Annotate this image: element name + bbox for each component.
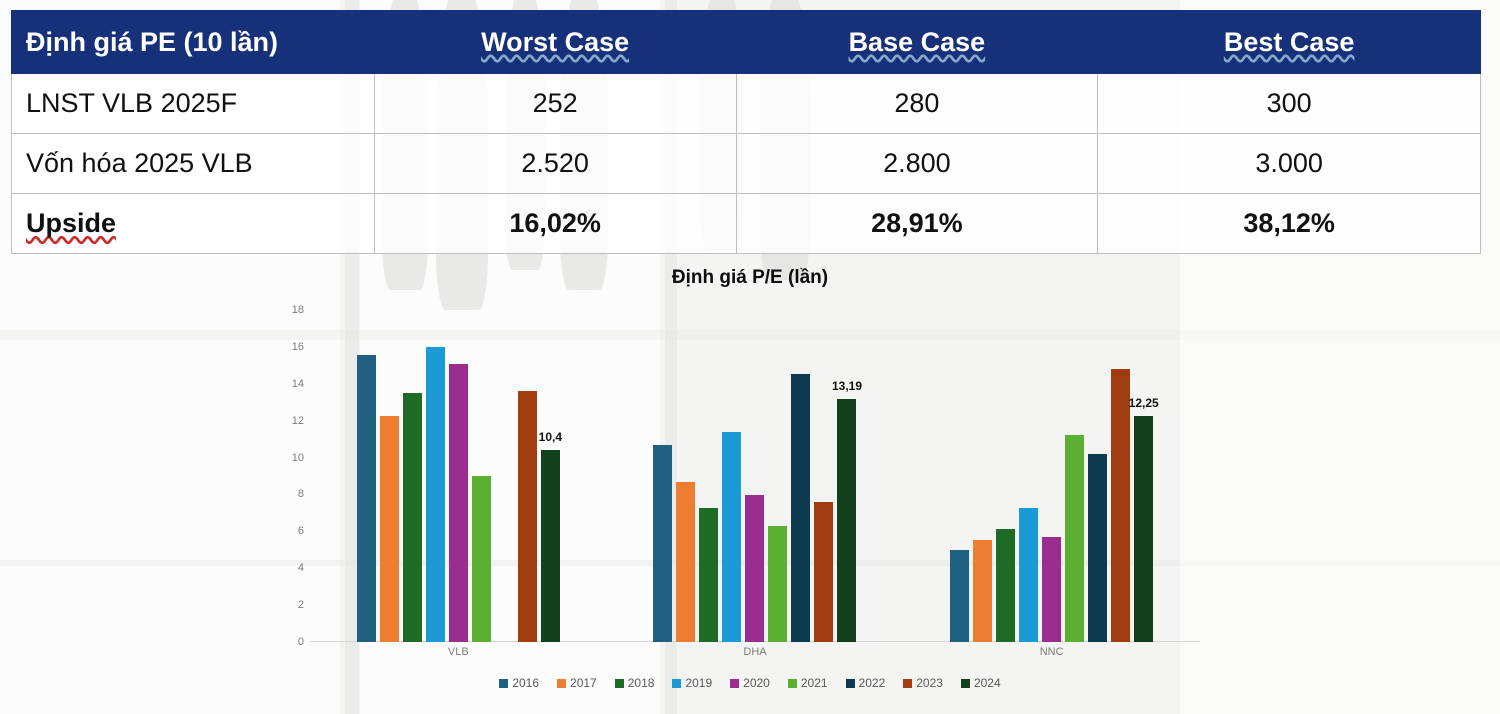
- cell-upside-base: 28,91%: [736, 194, 1098, 254]
- bar-slot-2019: [426, 310, 445, 642]
- bar-slot-2024: 12,25: [1134, 310, 1153, 642]
- y-axis-tick: 0: [270, 636, 304, 648]
- legend-item-2021[interactable]: 2021: [788, 676, 828, 690]
- bar-slot-2021: [768, 310, 787, 642]
- y-axis: 024681012141618: [270, 310, 304, 642]
- bar-dha-2017[interactable]: [676, 482, 695, 642]
- bar-group-vlb: 10,4: [310, 310, 607, 642]
- bar-dha-2023[interactable]: [814, 502, 833, 642]
- chart-legend: 201620172018201920202021202220232024: [0, 676, 1500, 690]
- bar-vlb-2016[interactable]: [357, 355, 376, 642]
- legend-label: 2020: [743, 676, 770, 690]
- bar-slot-2017: [676, 310, 695, 642]
- bar-dha-2018[interactable]: [699, 508, 718, 642]
- bar-slot-2018: [403, 310, 422, 642]
- table-header-worst-case: Worst Case: [374, 11, 736, 74]
- y-axis-tick: 16: [270, 341, 304, 353]
- bars-container: 10,4VLB13,19DHA12,25NNC: [310, 310, 1200, 642]
- table-header-best-case: Best Case: [1098, 11, 1481, 74]
- bar-dha-2022[interactable]: [791, 374, 810, 642]
- table-row: LNST VLB 2025F 252 280 300: [12, 74, 1481, 134]
- legend-swatch-icon: [672, 679, 681, 688]
- bar-nnc-2016[interactable]: [950, 550, 969, 642]
- bar-slot-2022: [495, 310, 514, 642]
- legend-label: 2024: [974, 676, 1001, 690]
- bar-value-label: 10,4: [539, 430, 562, 444]
- x-axis-label-vlb: VLB: [448, 646, 469, 658]
- legend-label: 2017: [570, 676, 597, 690]
- x-axis-label-nnc: NNC: [1040, 646, 1064, 658]
- bar-vlb-2021[interactable]: [472, 476, 491, 642]
- legend-label: 2019: [685, 676, 712, 690]
- bar-slot-2018: [699, 310, 718, 642]
- valuation-table: Định giá PE (10 lần) Worst Case Base Cas…: [11, 10, 1481, 254]
- y-axis-tick: 14: [270, 378, 304, 390]
- table-header-row: Định giá PE (10 lần) Worst Case Base Cas…: [12, 11, 1481, 74]
- bar-slot-2018: [996, 310, 1015, 642]
- legend-swatch-icon: [903, 679, 912, 688]
- y-axis-tick: 2: [270, 599, 304, 611]
- legend-label: 2018: [628, 676, 655, 690]
- bar-slot-2020: [1042, 310, 1061, 642]
- row-label-upside: Upside: [12, 194, 375, 254]
- cell-vonhoa-base: 2.800: [736, 134, 1098, 194]
- legend-item-2022[interactable]: 2022: [846, 676, 886, 690]
- bar-nnc-2020[interactable]: [1042, 537, 1061, 642]
- table-row: Vốn hóa 2025 VLB 2.520 2.800 3.000: [12, 134, 1481, 194]
- bar-dha-2020[interactable]: [745, 495, 764, 642]
- bar-slot-2016: [357, 310, 376, 642]
- bar-slot-2023: [814, 310, 833, 642]
- bar-dha-2021[interactable]: [768, 526, 787, 642]
- y-axis-tick: 8: [270, 488, 304, 500]
- table-header-base-case: Base Case: [736, 11, 1098, 74]
- bar-slot-2019: [1019, 310, 1038, 642]
- legend-swatch-icon: [788, 679, 797, 688]
- bar-vlb-2020[interactable]: [449, 364, 468, 643]
- bar-vlb-2017[interactable]: [380, 416, 399, 642]
- bar-nnc-2022[interactable]: [1088, 454, 1107, 642]
- y-axis-tick: 6: [270, 525, 304, 537]
- chart-plot-area: 024681012141618 10,4VLB13,19DHA12,25NNC: [270, 310, 1200, 642]
- bar-nnc-2024[interactable]: [1134, 416, 1153, 642]
- bar-dha-2019[interactable]: [722, 432, 741, 642]
- legend-label: 2016: [512, 676, 539, 690]
- pe-valuation-chart: Định giá P/E (lần) 024681012141618 10,4V…: [0, 262, 1500, 714]
- legend-swatch-icon: [557, 679, 566, 688]
- cell-vonhoa-best: 3.000: [1098, 134, 1481, 194]
- bar-slot-2016: [653, 310, 672, 642]
- legend-item-2023[interactable]: 2023: [903, 676, 943, 690]
- bar-dha-2016[interactable]: [653, 445, 672, 642]
- bar-slot-2022: [791, 310, 810, 642]
- bar-dha-2024[interactable]: [837, 399, 856, 642]
- bar-slot-2020: [449, 310, 468, 642]
- legend-swatch-icon: [961, 679, 970, 688]
- bar-vlb-2023[interactable]: [518, 391, 537, 642]
- bar-vlb-2019[interactable]: [426, 347, 445, 642]
- legend-swatch-icon: [499, 679, 508, 688]
- bar-value-label: 12,25: [1129, 396, 1159, 410]
- bar-slot-2021: [472, 310, 491, 642]
- legend-label: 2023: [916, 676, 943, 690]
- legend-item-2024[interactable]: 2024: [961, 676, 1001, 690]
- cell-lnst-best: 300: [1098, 74, 1481, 134]
- cell-lnst-base: 280: [736, 74, 1098, 134]
- x-axis-label-dha: DHA: [743, 646, 766, 658]
- table-header-row-label: Định giá PE (10 lần): [12, 11, 375, 74]
- table-row: Upside 16,02% 28,91% 38,12%: [12, 194, 1481, 254]
- bar-slot-2017: [380, 310, 399, 642]
- row-label-lnst: LNST VLB 2025F: [12, 74, 375, 134]
- legend-label: 2021: [801, 676, 828, 690]
- bar-value-label: 13,19: [832, 379, 862, 393]
- bar-vlb-2024[interactable]: [541, 450, 560, 642]
- bar-slot-2022: [1088, 310, 1107, 642]
- bar-slot-2023: [1111, 310, 1130, 642]
- bar-group-nnc: 12,25: [903, 310, 1200, 642]
- cell-upside-best: 38,12%: [1098, 194, 1481, 254]
- bar-nnc-2023[interactable]: [1111, 369, 1130, 642]
- legend-item-2019[interactable]: 2019: [672, 676, 712, 690]
- cell-upside-worst: 16,02%: [374, 194, 736, 254]
- legend-label: 2022: [859, 676, 886, 690]
- y-axis-tick: 10: [270, 452, 304, 464]
- legend-swatch-icon: [846, 679, 855, 688]
- bar-vlb-2018[interactable]: [403, 393, 422, 642]
- bar-slot-2019: [722, 310, 741, 642]
- legend-item-2020[interactable]: 2020: [730, 676, 770, 690]
- bar-nnc-2018[interactable]: [996, 529, 1015, 642]
- legend-item-2016[interactable]: 2016: [499, 676, 539, 690]
- legend-swatch-icon: [615, 679, 624, 688]
- row-label-von-hoa: Vốn hóa 2025 VLB: [12, 134, 375, 194]
- bar-slot-2021: [1065, 310, 1084, 642]
- bar-nnc-2019[interactable]: [1019, 508, 1038, 642]
- chart-title: Định giá P/E (lần): [0, 267, 1500, 289]
- bar-slot-2016: [950, 310, 969, 642]
- legend-item-2018[interactable]: 2018: [615, 676, 655, 690]
- bar-slot-2024: 13,19: [837, 310, 856, 642]
- bar-slot-2023: [518, 310, 537, 642]
- legend-item-2017[interactable]: 2017: [557, 676, 597, 690]
- y-axis-tick: 12: [270, 415, 304, 427]
- bar-nnc-2021[interactable]: [1065, 435, 1084, 642]
- bar-group-dha: 13,19: [607, 310, 904, 642]
- y-axis-tick: 18: [270, 304, 304, 316]
- bar-slot-2024: 10,4: [541, 310, 560, 642]
- bar-slot-2020: [745, 310, 764, 642]
- y-axis-tick: 4: [270, 562, 304, 574]
- bar-nnc-2017[interactable]: [973, 540, 992, 642]
- cell-lnst-worst: 252: [374, 74, 736, 134]
- bar-slot-2017: [973, 310, 992, 642]
- cell-vonhoa-worst: 2.520: [374, 134, 736, 194]
- legend-swatch-icon: [730, 679, 739, 688]
